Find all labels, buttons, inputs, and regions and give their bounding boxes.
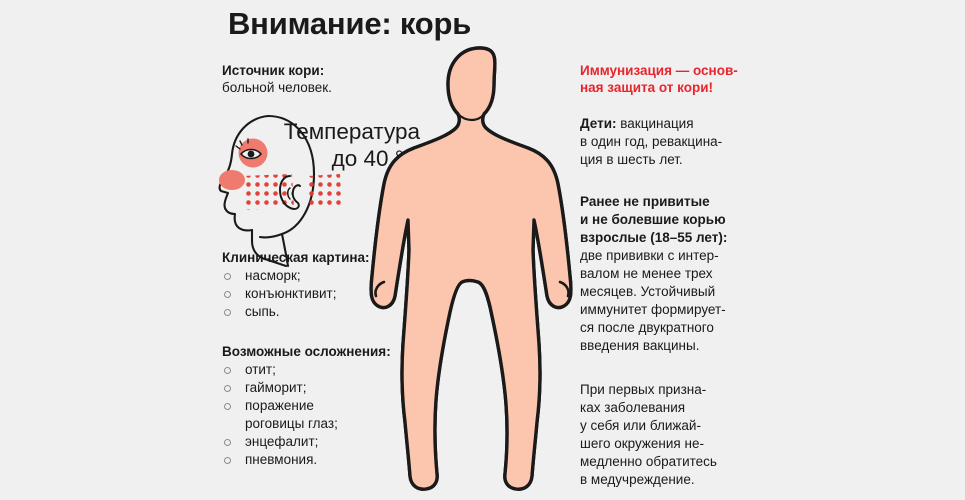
adults-body-line-2: валом не менее трех xyxy=(580,265,760,283)
left-text-column: Источник кори: больной человек. Клиничес… xyxy=(222,62,432,469)
adults-body-line-1: две прививки с интер- xyxy=(580,247,760,265)
adults-body-line-6: введения вакцины. xyxy=(580,337,760,355)
advice-line-4: шего окружения не- xyxy=(580,435,760,453)
list-item: гайморит; xyxy=(222,379,432,397)
bullet-circle-icon xyxy=(224,309,231,316)
list-item-label: поражение xyxy=(245,398,314,413)
list-item-label: сыпь. xyxy=(245,304,280,319)
illustration-spacer xyxy=(222,96,432,249)
list-item-label: конъюнктивит; xyxy=(245,286,336,301)
list-item: энцефалит; xyxy=(222,433,432,451)
list-item: пневмония. xyxy=(222,451,432,469)
bullet-circle-icon xyxy=(224,273,231,280)
list-item: сыпь. xyxy=(222,303,432,321)
measles-infographic-poster: Внимание: корь Т xyxy=(0,0,965,500)
children-line-1: Дети: вакцинация xyxy=(580,115,760,133)
banner-line-1: Иммунизация — основ- xyxy=(580,62,760,79)
complications-heading: Возможные осложнения: xyxy=(222,343,432,360)
banner-line-2: ная защита от кори! xyxy=(580,79,760,96)
list-item-label: энцефалит; xyxy=(245,434,318,449)
list-item: поражение роговицы глаз; xyxy=(222,397,432,433)
adults-body-line-4: иммунитет формирует- xyxy=(580,301,760,319)
complications-block: Возможные осложнения: отит; гайморит; по… xyxy=(222,343,432,469)
advice-line-5: медленно обратитесь xyxy=(580,453,760,471)
page-title: Внимание: корь xyxy=(228,6,471,42)
adults-head-line-2: и не болевшие корью xyxy=(580,211,760,229)
section-gap xyxy=(222,321,432,343)
adults-head-line-1: Ранее не привитые xyxy=(580,193,760,211)
list-item-label: насморк; xyxy=(245,268,301,283)
bullet-circle-icon xyxy=(224,439,231,446)
list-item: насморк; xyxy=(222,267,432,285)
list-item-label: отит; xyxy=(245,362,276,377)
adults-head-line-3: взрослые (18–55 лет): xyxy=(580,229,760,247)
list-item: отит; xyxy=(222,361,432,379)
clinical-list: насморк; конъюнктивит; сыпь. xyxy=(222,267,432,321)
advice-line-3: у себя или ближай- xyxy=(580,417,760,435)
immunization-banner: Иммунизация — основ- ная защита от кори! xyxy=(580,62,760,96)
advice-line-6: в медучреждение. xyxy=(580,471,760,489)
section-gap xyxy=(580,355,760,381)
bullet-circle-icon xyxy=(224,385,231,392)
children-block: Дети: вакцинация в один год, ревакцина- … xyxy=(580,115,760,169)
section-gap xyxy=(580,169,760,193)
children-line-3: ция в шесть лет. xyxy=(580,151,760,169)
list-item: конъюнктивит; xyxy=(222,285,432,303)
source-block: Источник кори: больной человек. xyxy=(222,62,432,96)
children-line-2: в один год, ревакцина- xyxy=(580,133,760,151)
source-heading: Источник кори: xyxy=(222,62,432,79)
list-item-label-continued: роговицы глаз; xyxy=(245,415,432,433)
advice-line-2: ках заболевания xyxy=(580,399,760,417)
clinical-block: Клиническая картина: насморк; конъюнктив… xyxy=(222,249,432,321)
section-gap xyxy=(580,96,760,115)
bullet-circle-icon xyxy=(224,403,231,410)
children-line-1-rest: вакцинация xyxy=(617,116,694,131)
bullet-circle-icon xyxy=(224,367,231,374)
advice-block: При первых призна- ках заболевания у себ… xyxy=(580,381,760,489)
complications-list: отит; гайморит; поражение роговицы глаз;… xyxy=(222,361,432,469)
bullet-circle-icon xyxy=(224,291,231,298)
advice-line-1: При первых призна- xyxy=(580,381,760,399)
children-label: Дети: xyxy=(580,116,617,131)
bullet-circle-icon xyxy=(224,457,231,464)
adults-block: Ранее не привитые и не болевшие корью вз… xyxy=(580,193,760,355)
clinical-heading: Клиническая картина: xyxy=(222,249,432,266)
list-item-label: пневмония. xyxy=(245,452,317,467)
adults-body-line-5: ся после двукратного xyxy=(580,319,760,337)
right-text-column: Иммунизация — основ- ная защита от кори!… xyxy=(580,62,760,489)
adults-body-line-3: месяцев. Устойчивый xyxy=(580,283,760,301)
list-item-label: гайморит; xyxy=(245,380,306,395)
source-text: больной человек. xyxy=(222,79,432,96)
